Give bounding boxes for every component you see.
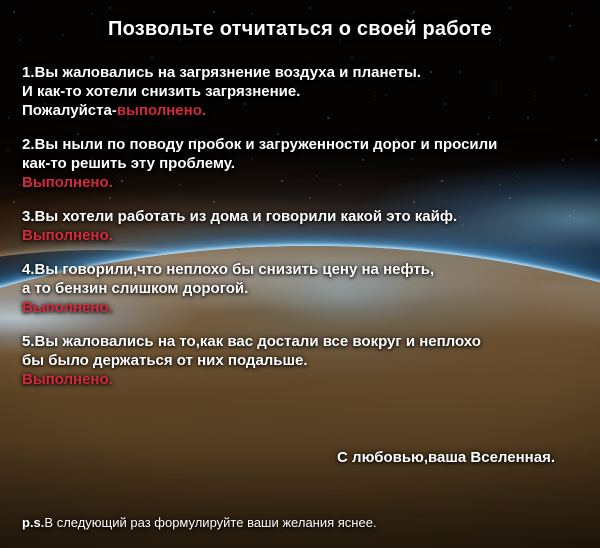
item-line: 5.Вы жаловались на то,как вас достали вс… — [22, 332, 588, 351]
list-item: 2.Вы ныли по поводу пробок и загруженнос… — [22, 135, 588, 192]
item-line: как-то решить эту проблему. — [22, 154, 588, 173]
poster-text-layer: Позвольте отчитаться о своей работе 1.Вы… — [0, 0, 600, 548]
item-line: 1.Вы жаловались на загрязнение воздуха и… — [22, 63, 588, 82]
item-line: 4.Вы говорили,что неплохо бы снизить цен… — [22, 260, 588, 279]
status-badge: выполнено. — [117, 102, 206, 119]
list-item: 1.Вы жаловались на загрязнение воздуха и… — [22, 63, 588, 120]
list-item: 3.Вы хотели работать из дома и говорили … — [22, 207, 588, 245]
status-badge: Выполнено. — [22, 226, 588, 245]
space-poster-image: Позвольте отчитаться о своей работе 1.Вы… — [0, 0, 600, 548]
item-line: И как-то хотели снизить загрязнение. — [22, 82, 588, 101]
postscript-label: p.s. — [22, 515, 44, 530]
item-line: бы было держаться от них подальше. — [22, 351, 588, 370]
signature-text: С любовью,ваша Вселенная. — [337, 449, 555, 466]
list-item: 4.Вы говорили,что неплохо бы снизить цен… — [22, 260, 588, 317]
list-item: 5.Вы жаловались на то,как вас достали вс… — [22, 332, 588, 389]
complaints-list: 1.Вы жаловались на загрязнение воздуха и… — [22, 63, 588, 404]
item-line: а то бензин слишком дорогой. — [22, 279, 588, 298]
item-closing-line: Пожалуйста-выполнено. — [22, 101, 588, 120]
status-badge: Выполнено. — [22, 370, 588, 389]
status-badge: Выполнено. — [22, 298, 588, 317]
item-line: 3.Вы хотели работать из дома и говорили … — [22, 207, 588, 226]
postscript: p.s.В следующий раз формулируйте ваши же… — [22, 515, 377, 530]
page-title: Позвольте отчитаться о своей работе — [0, 18, 600, 41]
item-closing-prefix: Пожалуйста- — [22, 102, 117, 119]
postscript-text: В следующий раз формулируйте ваши желани… — [44, 515, 376, 530]
item-line: 2.Вы ныли по поводу пробок и загруженнос… — [22, 135, 588, 154]
status-badge: Выполнено. — [22, 173, 588, 192]
